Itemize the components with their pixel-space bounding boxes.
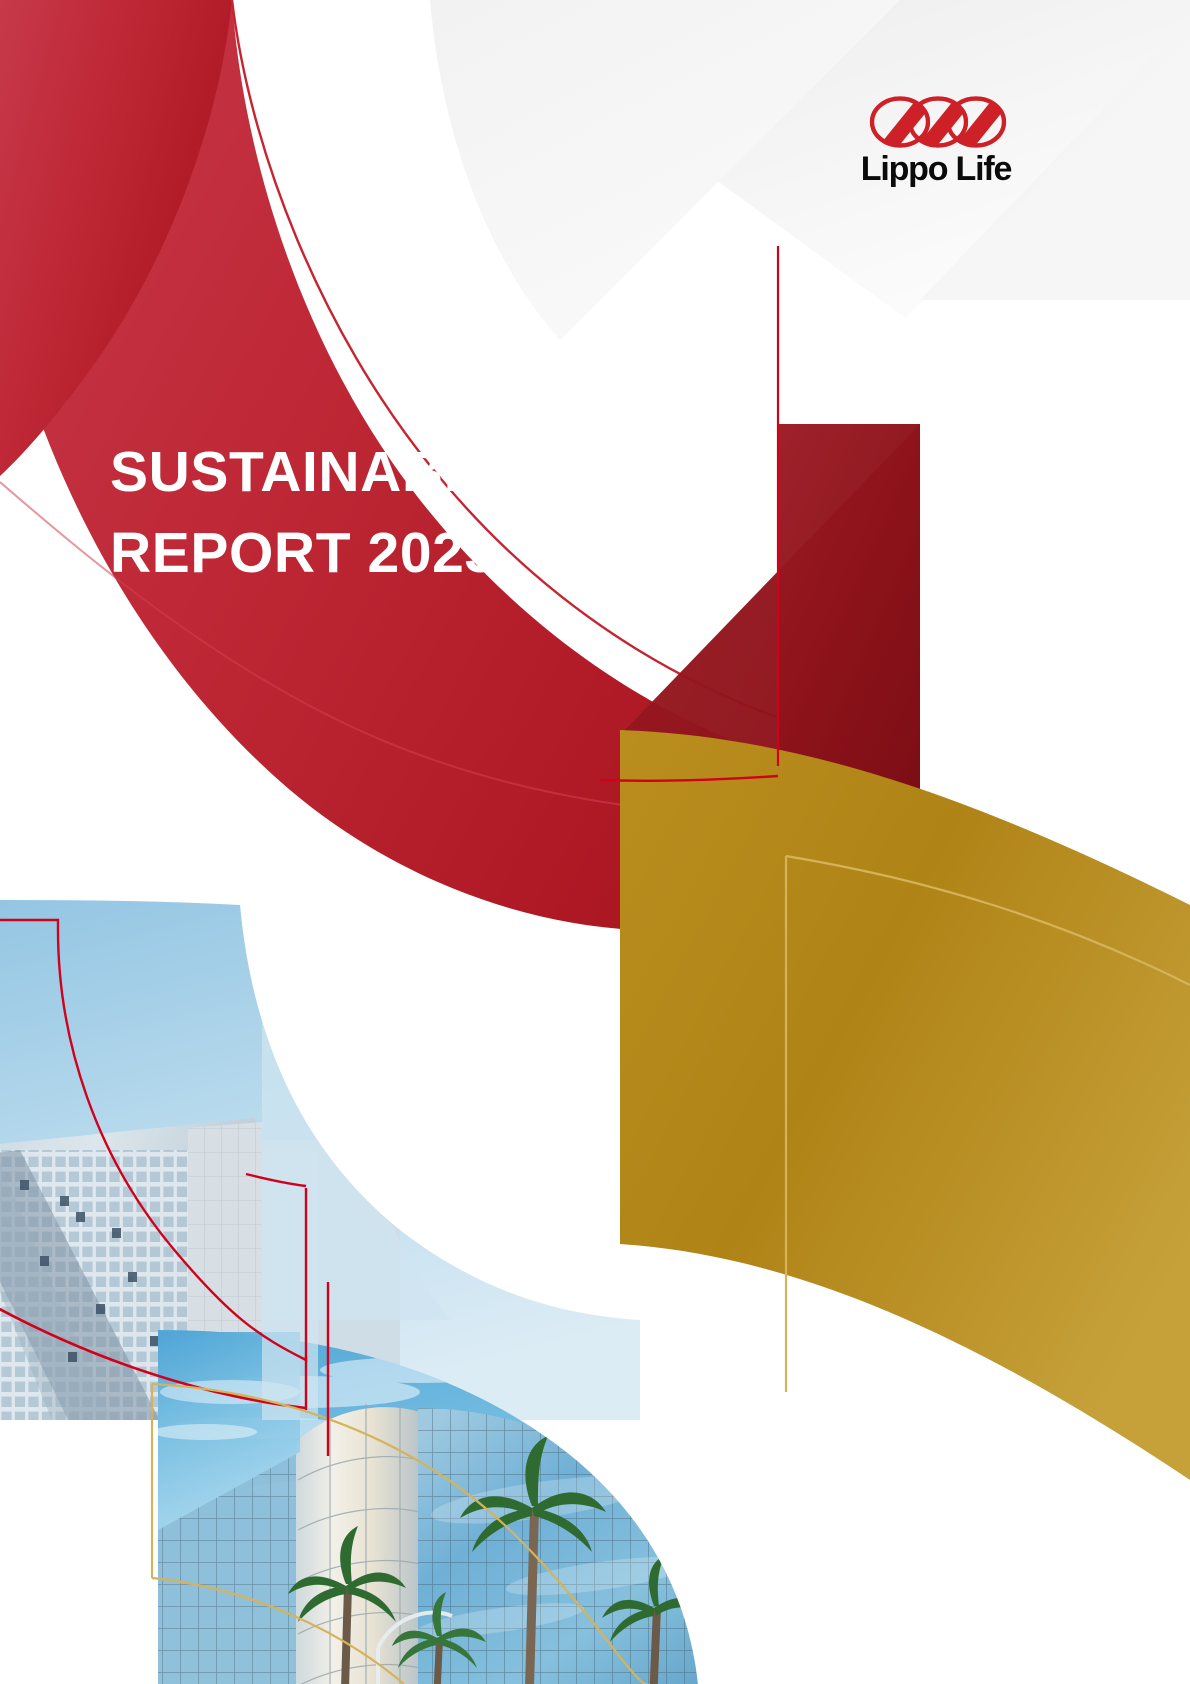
- report-cover-page: SUSTAINABILITY REPORT 2023: [0, 0, 1190, 1684]
- brand-wordmark: Lippo Life: [846, 150, 1026, 189]
- brand-logo: Lippo Life: [846, 94, 1026, 194]
- pale-blue-band: [262, 1150, 318, 1420]
- lippo-life-interlocking-rings-logo-icon: [868, 94, 1008, 150]
- cover-artwork: [0, 0, 1190, 1684]
